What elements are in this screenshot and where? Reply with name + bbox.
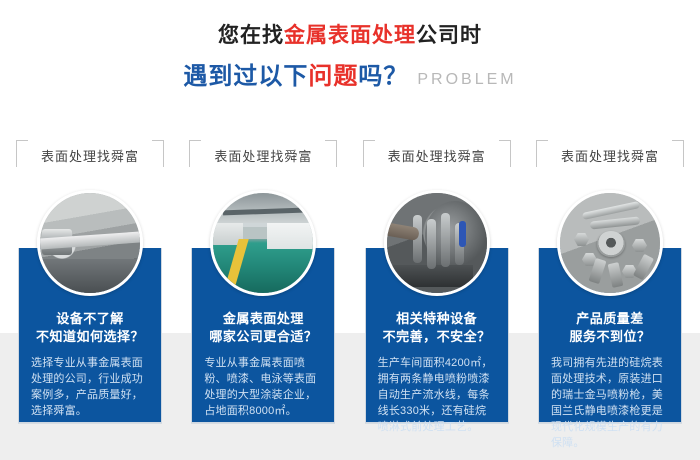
headline-secondary-text: 遇到过以下问题吗？ [183,61,408,93]
card-description: 专业从事金属表面喷粉、喷漆、电泳等表面处理的大型涂装企业，占地面积8000㎡。 [204,355,322,419]
coating-equipment-photo [384,190,490,296]
photo-image [40,193,140,293]
photo-detail [597,231,625,257]
bracket-text: 表面处理找舜富 [41,146,139,165]
bracket-text: 表面处理找舜富 [388,146,486,165]
factory-workshop-photo [210,190,316,296]
photo-detail [459,221,466,247]
photo-detail [590,216,641,229]
card-bracket-label: 表面处理找舜富 [16,140,164,170]
problem-card[interactable]: 表面处理找舜富 设备不了解 不知道如何选择？ 选择专业从事金属表面处理的公司，行… [10,140,170,430]
headline-secondary-pre: 遇到过以下 [183,63,308,90]
headline-secondary-post: 吗？ [358,63,408,90]
photo-detail [427,219,436,269]
headline-secondary-accent: 问题 [308,63,358,90]
photo-detail [608,262,624,288]
bracket-text: 表面处理找舜富 [561,146,659,165]
card-bracket-label: 表面处理找舜富 [536,140,684,170]
headline-english-label: PROBLEM [417,64,516,96]
problem-card[interactable]: 表面处理找舜富 产品质量差 服务不到位？ 我司拥有先进的硅烷表面处理技术，原装进… [530,140,690,430]
card-title: 设备不了解 不知道如何选择？ [36,310,144,346]
photo-detail [632,239,647,252]
problem-card[interactable]: 表面处理找舜富 金属表面处理 哪家公司更合适？ 专业从事金属表面喷粉、喷漆、电泳… [183,140,343,430]
headline-primary-post: 公司时 [416,24,482,47]
card-title: 产品质量差 服务不到位？ [569,310,650,346]
problem-card-list: 表面处理找舜富 设备不了解 不知道如何选择？ 选择专业从事金属表面处理的公司，行… [10,140,690,430]
headline-primary-accent: 金属表面处理 [284,24,416,47]
card-bracket-label: 表面处理找舜富 [363,140,511,170]
card-description: 生产车间面积4200㎡，拥有两条静电喷粉喷漆自动生产流水线，每条线长330米，还… [378,355,496,435]
photo-detail [633,254,654,280]
card-title: 相关特种设备 不完善，不安全？ [383,310,491,346]
photo-detail [40,259,140,293]
card-description: 选择专业从事金属表面处理的公司，行业成功案例多，产品质量好，选择舜富。 [31,355,149,419]
bracket-text: 表面处理找舜富 [214,146,312,165]
photo-image [560,193,660,293]
photo-detail [267,223,313,249]
card-description: 我司拥有先进的硅烷表面处理技术，原装进口的瑞士金马喷粉枪，美国兰氏静电喷漆枪更是… [551,355,669,451]
photo-detail [441,213,450,267]
fasteners-products-photo [557,190,663,296]
headline-secondary: 遇到过以下问题吗？ PROBLEM [0,61,700,96]
photo-detail [42,229,72,255]
problem-card[interactable]: 表面处理找舜富 相关特种设备 不完善，不安全？ 生产车间面积4200㎡，拥有两条… [357,140,517,430]
problem-section: 您在找金属表面处理公司时 遇到过以下问题吗？ PROBLEM 表面处理找舜富 设… [0,0,700,460]
photo-image [387,193,487,293]
headline-primary-pre: 您在找 [218,24,284,47]
section-header: 您在找金属表面处理公司时 遇到过以下问题吗？ PROBLEM [0,0,700,96]
headline-primary: 您在找金属表面处理公司时 [0,22,700,50]
lathe-machining-photo [37,190,143,296]
photo-image [213,193,313,293]
card-bracket-label: 表面处理找舜富 [189,140,337,170]
photo-detail [574,233,589,246]
card-title: 金属表面处理 哪家公司更合适？ [209,310,317,346]
photo-detail [224,239,249,293]
